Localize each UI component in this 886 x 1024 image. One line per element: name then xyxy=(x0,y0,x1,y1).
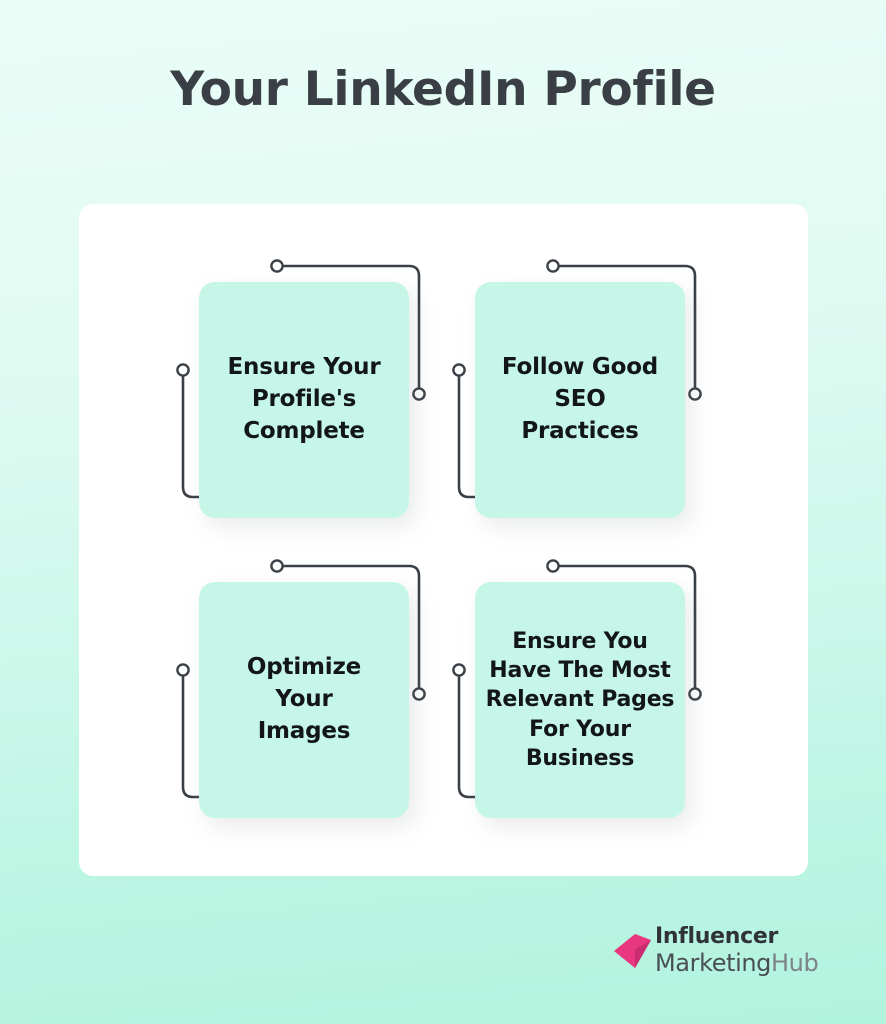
connector-node-top-left xyxy=(271,560,282,571)
brand-name-hub: Hub xyxy=(771,949,818,977)
brand-logo: Influencer MarketingHub xyxy=(613,926,813,982)
connector-node-top-left xyxy=(271,260,282,271)
card-optimize-images[interactable]: Optimize Your Images xyxy=(199,582,409,818)
connector-node-left xyxy=(177,664,188,675)
left-arrow-logo-icon xyxy=(613,930,655,974)
brand-logo-text: Influencer MarketingHub xyxy=(655,926,818,975)
card-profile-complete[interactable]: Ensure Your Profile's Complete xyxy=(199,282,409,518)
connector-node-left xyxy=(453,364,464,375)
brand-name-marketinghub: MarketingHub xyxy=(655,951,818,975)
connector-node-left xyxy=(453,664,464,675)
brand-name-influencer: Influencer xyxy=(655,926,818,948)
brand-name-marketing: Marketing xyxy=(655,949,771,977)
card-label: Ensure Your Profile's Complete xyxy=(228,352,381,447)
connector-node-right xyxy=(689,688,700,699)
card-seo-practices[interactable]: Follow Good SEO Practices xyxy=(475,282,685,518)
card-relevant-pages[interactable]: Ensure You Have The Most Relevant Pages … xyxy=(475,582,685,818)
card-label: Ensure You Have The Most Relevant Pages … xyxy=(486,627,675,773)
connector-node-left xyxy=(177,364,188,375)
connector-node-top-left xyxy=(547,560,558,571)
connector-node-right xyxy=(413,688,424,699)
page-title-container: Your LinkedIn Profile xyxy=(0,62,886,117)
connector-node-top-left xyxy=(547,260,558,271)
page-title: Your LinkedIn Profile xyxy=(0,62,886,117)
content-panel: Ensure Your Profile's Complete Follow Go… xyxy=(79,204,808,876)
connector-node-right xyxy=(413,388,424,399)
connector-node-right xyxy=(689,388,700,399)
card-label: Follow Good SEO Practices xyxy=(502,352,658,447)
card-label: Optimize Your Images xyxy=(247,652,361,747)
